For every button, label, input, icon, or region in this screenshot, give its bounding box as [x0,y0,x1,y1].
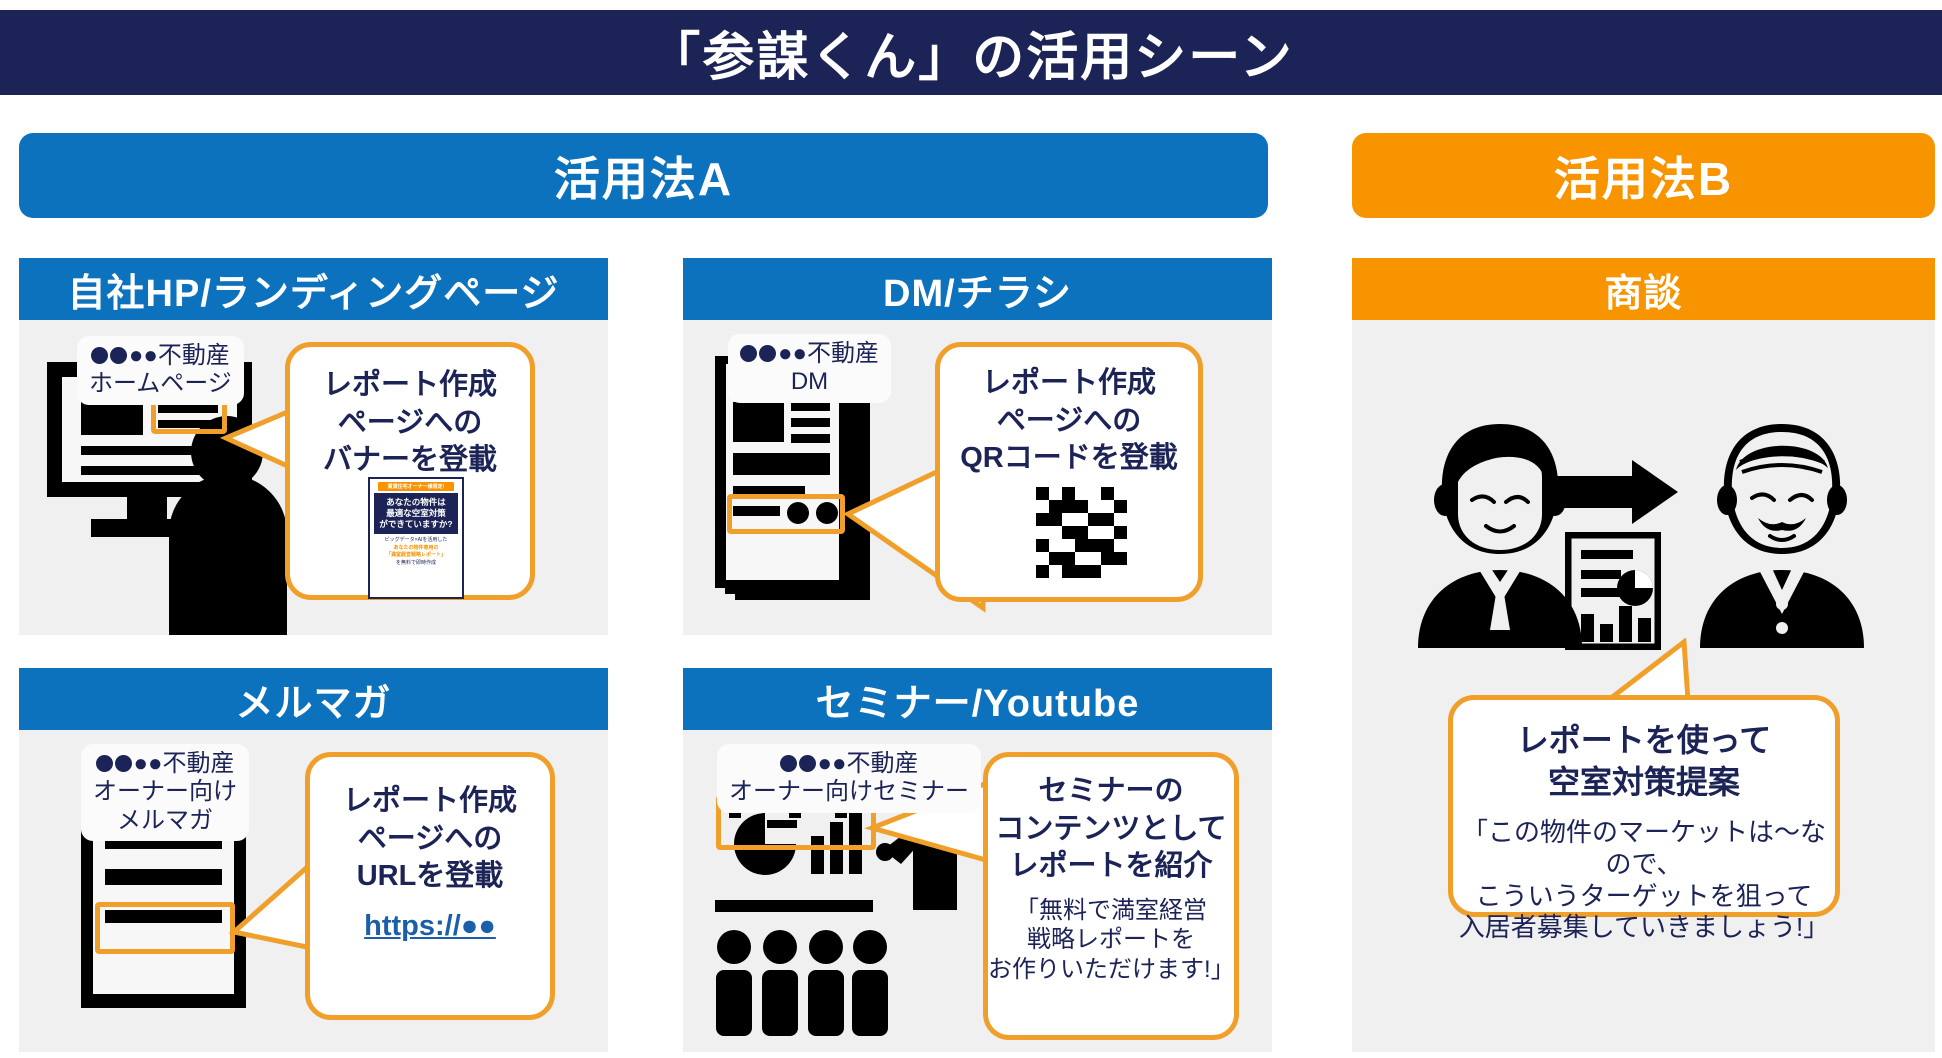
bullet-dot-icon [110,347,127,364]
audience-head-icon [763,930,797,964]
panel-homepage: 自社HP/ランディングページ ●●不動産 [19,258,608,635]
panel-negotiation-header: 商談 [1352,258,1935,320]
panel-negotiation: 商談 [1352,258,1935,1052]
slide-root: 「参謀くん」の活用シーン 活用法A 活用法B 自社HP/ランディングページ [0,0,1942,1058]
mailmagazine-tag-company: ●●不動産 [134,750,235,777]
dm-callout: レポート作成 ページへの QRコードを登載 [935,342,1203,602]
panel-mailmagazine-header: メルマガ [19,668,608,730]
bullet-dot-icon [740,345,757,362]
property-owner-icon [1682,418,1882,648]
homepage-tag-company: ●●不動産 [129,342,230,369]
bullet-dot-icon [96,755,113,772]
panel-dm-header-text: DM/チラシ [883,262,1072,317]
panel-seminar: セミナー/Youtube [683,668,1272,1052]
seminar-tag-line1: ●●不動産 [729,750,969,778]
section-a-label: 活用法A [554,143,733,209]
seminar-tag: ●●不動産 オーナー向けセミナー [717,744,981,813]
dm-tag: ●●不動産 DM [728,334,891,403]
dm-content-block [733,453,830,475]
bullet-dot-icon [91,347,108,364]
panel-mailmagazine: メルマガ ●●不動産 オーナー向け メルマガ [19,668,608,1052]
homepage-callout: レポート作成 ページへの バナーを登載 賃貸住宅オーナー様限定! あなたの物件は… [285,342,535,600]
mailmagazine-tag-line2: オーナー向け [93,778,237,806]
panel-dm-body: ●●不動産 DM レポート作成 ページへの QRコードを登載 [683,320,1272,635]
report-document-icon [1565,532,1661,650]
banner-footer: ビッグデータ×AIを活用した あなたの物件専用の 「満室経営戦略レポート」 を無… [370,534,462,567]
panel-homepage-header-text: 自社HP/ランディングページ [68,262,560,317]
panel-homepage-body: ●●不動産 ホームページ レポート作成 ページへの バナーを登載 賃貸住宅オーナ… [19,320,608,635]
section-bar-a: 活用法A [19,133,1268,218]
banner-tag: 賃貸住宅オーナー様限定! [378,482,454,491]
panel-negotiation-body: レポートを使って 空室対策提案 「この物件のマーケットは〜なので、 こういうター… [1352,320,1935,1052]
homepage-tag: ●●不動産 ホームページ [77,336,244,405]
arrow-right-icon [1548,460,1678,524]
mailmagazine-callout: レポート作成 ページへの URLを登載 https://●● [305,752,555,1020]
negotiation-callout-quote: 「この物件のマーケットは〜なので、 こういうターゲットを狙って 入居者募集してい… [1453,817,1835,944]
section-bar-b: 活用法B [1352,133,1935,218]
mailmagazine-tag: ●●不動産 オーナー向け メルマガ [81,744,249,841]
mailmagazine-tag-line1: ●●不動産 [93,750,237,778]
dm-content-block [733,402,784,442]
audience-head-icon [809,930,843,964]
panel-mailmagazine-header-text: メルマガ [235,672,391,727]
seminar-tag-company: ●●不動産 [818,750,919,777]
bullet-dot-icon [115,755,132,772]
dm-tag-company: ●●不動産 [778,340,879,367]
mailmagazine-tag-line3: メルマガ [93,807,237,835]
report-url-link[interactable]: https://●● [364,910,496,943]
seminar-tag-line2: オーナー向けセミナー [729,778,969,806]
banner-hero: あなたの物件は 最適な空室対策 ができていますか? [374,493,458,534]
mailmag-line [105,869,222,885]
mailmag-url-highlight-box [95,902,235,954]
seminar-callout-quote: 「無料で満室経営 戦略レポートを お作りいただけます!」 [988,896,1234,984]
panel-seminar-header-text: セミナー/Youtube [816,672,1140,727]
section-b-label: 活用法B [1554,143,1733,209]
dm-callout-text: レポート作成 ページへの QRコードを登載 [960,365,1178,478]
bullet-dot-icon [799,755,816,772]
seminar-screen-base [715,900,873,912]
dm-content-line [791,402,830,411]
panel-homepage-header: 自社HP/ランディングページ [19,258,608,320]
audience-body-icon [852,970,888,1036]
qr-code-icon [1036,487,1127,578]
seminar-callout: セミナーの コンテンツとして レポートを紹介 「無料で満室経営 戦略レポートを … [983,752,1239,1040]
bullet-dot-icon [780,755,797,772]
report-banner-thumbnail: 賃貸住宅オーナー様限定! あなたの物件は 最適な空室対策 ができていますか? ビ… [368,477,464,599]
audience-body-icon [762,970,798,1036]
panel-dm: DM/チラシ ●●不動産 DM [683,258,1272,635]
homepage-callout-text: レポート作成 ページへの バナーを登載 [323,367,497,480]
audience-body-icon [808,970,844,1036]
dm-tag-line2: DM [740,368,879,396]
audience-head-icon [717,930,751,964]
bullet-dot-icon [759,345,776,362]
homepage-tag-line1: ●●不動産 [89,342,232,370]
homepage-tag-line2: ホームページ [89,370,232,398]
dm-content-line [791,434,830,443]
negotiation-callout: レポートを使って 空室対策提案 「この物件のマーケットは〜なので、 こういうター… [1448,695,1840,917]
seminar-callout-text: セミナーの コンテンツとして レポートを紹介 [995,773,1226,886]
mailmagazine-callout-text: レポート作成 ページへの URLを登載 [343,783,517,896]
panel-mailmagazine-body: ●●不動産 オーナー向け メルマガ レポート作成 ページへの URLを登載 ht… [19,730,608,1052]
panel-dm-header: DM/チラシ [683,258,1272,320]
panel-seminar-header: セミナー/Youtube [683,668,1272,730]
dm-content-line [791,418,830,427]
dm-tag-line1: ●●不動産 [740,340,879,368]
panel-seminar-body: ●●不動産 オーナー向けセミナー セミナーの コンテンツとして レポートを紹介 … [683,730,1272,1052]
panel-negotiation-header-text: 商談 [1604,262,1682,317]
negotiation-callout-text: レポートを使って 空室対策提案 [1517,720,1771,803]
audience-head-icon [853,930,887,964]
audience-body-icon [716,970,752,1036]
monitor-stand [127,497,167,519]
page-title-text: 「参謀くん」の活用シーン [648,15,1293,90]
dm-qr-highlight-box [727,494,845,534]
page-title: 「参謀くん」の活用シーン [0,10,1942,95]
